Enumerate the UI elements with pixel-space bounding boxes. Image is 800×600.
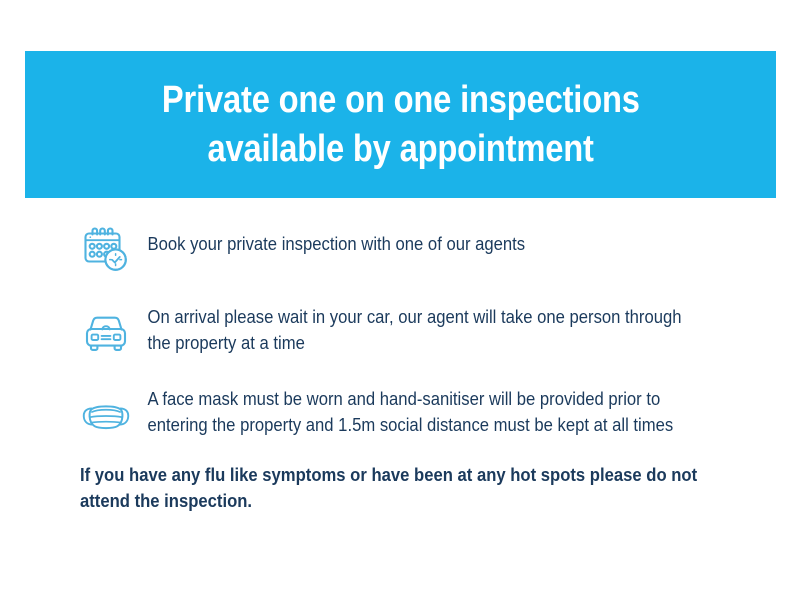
footer-warning-note: If you have any flu like symptoms or hav… [80, 462, 710, 515]
list-item-text: Book your private inspection with one of… [134, 222, 696, 257]
list-item: On arrival please wait in your car, our … [78, 302, 758, 360]
instruction-list: Book your private inspection with one of… [78, 222, 758, 444]
banner-title-line-2: available by appointment [207, 125, 593, 174]
header-banner: Private one on one inspections available… [25, 51, 776, 198]
inspection-notice-poster: Private one on one inspections available… [0, 0, 800, 600]
face-mask-icon [78, 388, 134, 444]
list-item: Book your private inspection with one of… [78, 222, 758, 278]
list-item-text: A face mask must be worn and hand-saniti… [134, 384, 696, 437]
calendar-clock-icon [78, 222, 134, 278]
list-item-text: On arrival please wait in your car, our … [134, 302, 696, 355]
car-front-icon [78, 304, 134, 360]
banner-title-line-1: Private one on one inspections [162, 76, 640, 125]
list-item: A face mask must be worn and hand-saniti… [78, 384, 758, 444]
